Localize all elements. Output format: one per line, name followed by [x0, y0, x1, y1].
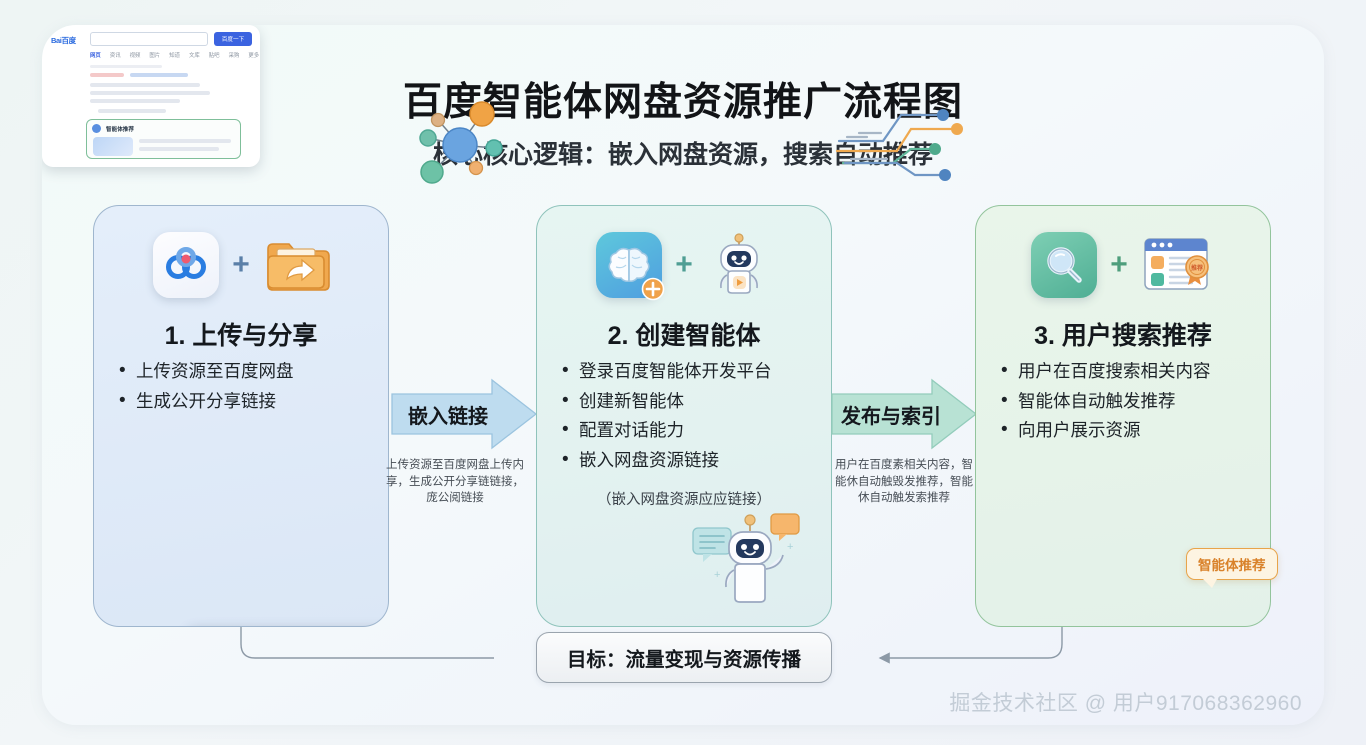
card3-bullet-2: 智能体自动触发推荐	[1000, 388, 1256, 415]
agent-thumbnail	[93, 137, 133, 156]
robot-icon	[706, 232, 772, 298]
search-tabs: 网页 资讯 视频 图片 知道 文库 贴吧 采购 更多	[90, 51, 259, 59]
arrow2-label: 发布与索引	[841, 400, 941, 429]
tab-more[interactable]: 更多	[248, 51, 259, 59]
card2-bullet-4: 嵌入网盘资源链接	[561, 447, 817, 474]
tab-webpage[interactable]: 网页	[90, 51, 101, 59]
agent-line	[139, 147, 219, 151]
result-line	[98, 109, 166, 113]
search-input[interactable]	[90, 32, 208, 46]
plus-icon: +	[232, 248, 250, 282]
plus-icon: +	[1110, 248, 1128, 282]
brain-plus-icon	[596, 232, 662, 298]
step-card-upload-share: + 1. 上传与分享 上传资源至百度网盘 生成公开分享链接 百度网盘 口录一~	[93, 205, 389, 627]
card1-icon-row: +	[94, 232, 388, 298]
goal-box: 目标：流量变现与资源传播	[536, 632, 832, 683]
arrow-embed-link: 嵌入链接	[392, 380, 536, 448]
tab-wenku[interactable]: 文库	[189, 51, 200, 59]
svg-text:+: +	[787, 541, 793, 553]
card3-icon-row: + 推荐	[976, 232, 1270, 298]
network-nodes-icon	[402, 90, 522, 200]
svg-text:推荐: 推荐	[1191, 264, 1203, 272]
agent-card-title: 智能体推荐	[106, 125, 134, 133]
card2-heading: 2. 创建智能体	[537, 316, 831, 352]
share-dialog-mockup: 百度网盘 口录一~ 上传资源 生成公开 Share ✕ Copiare link…	[187, 626, 389, 627]
card2-bullets: 登录百度智能体开发平台 创建新智能体 配置对话能力 嵌入网盘资源链接	[561, 358, 817, 476]
baidu-logo: Bai百度	[51, 35, 76, 46]
robot-mascot-icon: ++	[687, 506, 813, 616]
baidu-netdisk-icon	[153, 232, 219, 298]
card1-bullets: 上传资源至百度网盘 生成公开分享链接	[118, 358, 374, 417]
arrow2-caption: 用户在百度素相关内容，智能休自动触毁发推荐，智能休自动触发索推荐	[834, 457, 974, 507]
agent-recommend-callout: 智能体推荐	[1186, 548, 1278, 580]
watermark: 掘金技术社区 @ 用户917068362960	[949, 687, 1302, 717]
card2-bullet-1: 登录百度智能体开发平台	[561, 358, 817, 385]
tab-caigou[interactable]: 采购	[229, 51, 240, 59]
circuit-lines-icon	[837, 93, 972, 198]
magnifier-icon	[1031, 232, 1097, 298]
card2-icon-row: +	[537, 232, 831, 298]
card2-bullet-3: 配置对话能力	[561, 417, 817, 444]
result-title-a	[90, 73, 124, 77]
tab-video[interactable]: 视频	[130, 51, 141, 59]
step-card-create-agent: + 2. 创建智能体 登录百度智能体开发平台	[536, 205, 832, 627]
card3-bullets: 用户在百度搜索相关内容 智能体自动触发推荐 向用户展示资源	[1000, 358, 1256, 447]
card3-bullet-1: 用户在百度搜索相关内容	[1000, 358, 1256, 385]
card1-bullet-2: 生成公开分享链接	[118, 388, 374, 415]
card3-bullet-3: 向用户展示资源	[1000, 417, 1256, 444]
search-result-window-icon: 推荐	[1141, 232, 1215, 298]
plus-icon: +	[675, 248, 693, 282]
card3-heading: 3. 用户搜索推荐	[976, 316, 1270, 352]
arrow1-caption: 上传资源至百度网盘上传内享，生成公开分享链链接，庞公阅链接	[385, 457, 525, 507]
card1-bullet-1: 上传资源至百度网盘	[118, 358, 374, 385]
agent-line	[139, 139, 231, 143]
result-line	[90, 83, 200, 87]
tab-zhidao[interactable]: 知道	[169, 51, 180, 59]
svg-text:+: +	[714, 569, 720, 581]
share-folder-icon	[263, 232, 329, 298]
card2-bullet-2: 创建新智能体	[561, 388, 817, 415]
agent-avatar-icon	[92, 124, 101, 133]
agent-recommend-card[interactable]: 智能体推荐	[86, 119, 241, 159]
result-meta	[90, 65, 162, 68]
result-line	[90, 91, 210, 95]
infographic-canvas: 百度智能体网盘资源推广流程图 核心核心逻辑：嵌入网盘资源，搜索自动推荐	[0, 0, 1366, 745]
arrow1-label: 嵌入链接	[408, 400, 488, 429]
search-button[interactable]: 百度一下	[214, 32, 252, 46]
tab-image[interactable]: 图片	[149, 51, 160, 59]
tab-tieba[interactable]: 贴吧	[209, 51, 220, 59]
arrow-publish-index: 发布与索引	[832, 380, 976, 448]
tab-news[interactable]: 资讯	[110, 51, 121, 59]
result-line	[90, 99, 180, 103]
result-title-b	[130, 73, 188, 77]
infographic-panel: 百度智能体网盘资源推广流程图 核心核心逻辑：嵌入网盘资源，搜索自动推荐	[42, 25, 1324, 725]
card1-heading: 1. 上传与分享	[94, 316, 388, 352]
